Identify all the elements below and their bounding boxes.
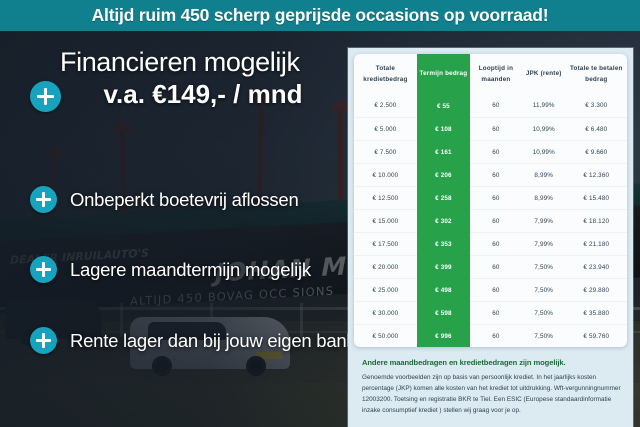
table-cell: 60 <box>470 164 522 187</box>
table-row: € 50.000€ 996607,50%€ 59.760 <box>354 325 627 348</box>
table-row: € 25.000€ 498607,50%€ 29.880 <box>354 279 627 302</box>
rates-table-card: Totale kredietbedrag Termijn bedrag Loop… <box>354 54 627 347</box>
table-cell: € 9.660 <box>566 141 627 164</box>
table-row: € 2.500€ 556011,99%€ 3.300 <box>354 95 627 118</box>
benefit-label: Rente lager dan bij jouw eigen bank <box>70 330 355 352</box>
table-cell: 60 <box>470 256 522 279</box>
table-cell: € 50.000 <box>354 325 417 348</box>
table-cell: € 302 <box>417 210 470 233</box>
table-cell: 60 <box>470 233 522 256</box>
plus-icon <box>30 81 61 112</box>
benefit-item-1: Onbeperkt boetevrij aflossen <box>30 186 299 213</box>
table-cell: € 161 <box>417 141 470 164</box>
table-cell: 7,99% <box>522 210 566 233</box>
table-cell: 7,50% <box>522 302 566 325</box>
headline-line-1: Financieren mogelijk <box>60 48 346 77</box>
credit-rates-table: Totale kredietbedrag Termijn bedrag Loop… <box>354 54 627 347</box>
table-cell: 60 <box>470 302 522 325</box>
column-header-monthly-amount: Termijn bedrag <box>417 55 470 95</box>
column-header-total-payable: Totale te betalen bedrag <box>566 55 627 95</box>
table-cell: 60 <box>470 210 522 233</box>
table-cell: € 25.000 <box>354 279 417 302</box>
benefit-item-3: Rente lager dan bij jouw eigen bank <box>30 327 355 354</box>
table-header-row: Totale kredietbedrag Termijn bedrag Loop… <box>354 55 627 95</box>
table-cell: € 996 <box>417 325 470 348</box>
table-cell: 7,50% <box>522 279 566 302</box>
table-cell: 60 <box>470 325 522 348</box>
table-row: € 20.000€ 399607,50%€ 23.940 <box>354 256 627 279</box>
benefit-label: Lagere maandtermijn mogelijk <box>70 259 311 281</box>
table-cell: € 3.300 <box>566 95 627 118</box>
table-cell: € 258 <box>417 187 470 210</box>
table-cell: € 59.760 <box>566 325 627 348</box>
plus-icon <box>30 256 57 283</box>
table-body: € 2.500€ 556011,99%€ 3.300€ 5.000€ 10860… <box>354 95 627 348</box>
column-header-total-credit: Totale kredietbedrag <box>354 55 417 95</box>
table-row: € 10.000€ 206608,99%€ 12.360 <box>354 164 627 187</box>
table-row: € 5.000€ 1086010,99%€ 6.480 <box>354 118 627 141</box>
table-row: € 12.500€ 258608,99%€ 15.480 <box>354 187 627 210</box>
table-cell: € 18.120 <box>566 210 627 233</box>
table-cell: € 29.880 <box>566 279 627 302</box>
table-cell: 60 <box>470 95 522 118</box>
plus-icon <box>30 186 57 213</box>
table-cell: € 399 <box>417 256 470 279</box>
table-cell: 60 <box>470 141 522 164</box>
top-banner-text: Altijd ruim 450 scherp geprijsde occasio… <box>92 5 549 26</box>
headline-block: Financieren mogelijk v.a. €149,- / mnd <box>60 48 346 110</box>
table-cell: 7,50% <box>522 325 566 348</box>
table-cell: € 20.000 <box>354 256 417 279</box>
table-cell: € 206 <box>417 164 470 187</box>
table-cell: € 598 <box>417 302 470 325</box>
table-cell: € 6.480 <box>566 118 627 141</box>
column-header-term-months: Looptijd in maanden <box>470 55 522 95</box>
table-cell: € 15.480 <box>566 187 627 210</box>
table-cell: 7,99% <box>522 233 566 256</box>
table-cell: € 21.180 <box>566 233 627 256</box>
credit-offer-banner: DEALER INRUILAUTO'S JOHAN MEURE ALTIJD 4… <box>0 0 640 427</box>
credit-info-panel: Totale kredietbedrag Termijn bedrag Loop… <box>348 48 633 427</box>
table-cell: € 23.940 <box>566 256 627 279</box>
table-row: € 15.000€ 302607,99%€ 18.120 <box>354 210 627 233</box>
table-cell: € 7.500 <box>354 141 417 164</box>
table-row: € 30.000€ 598607,50%€ 35.880 <box>354 302 627 325</box>
plus-icon <box>30 327 57 354</box>
disclaimer-title: Andere maandbedragen en kredietbedragen … <box>362 358 624 367</box>
table-cell: € 55 <box>417 95 470 118</box>
table-cell: € 12.500 <box>354 187 417 210</box>
table-cell: 60 <box>470 118 522 141</box>
table-cell: 8,99% <box>522 187 566 210</box>
table-cell: 10,99% <box>522 141 566 164</box>
headline-line-2: v.a. €149,- / mnd <box>60 80 346 110</box>
table-row: € 7.500€ 1616010,99%€ 9.660 <box>354 141 627 164</box>
table-cell: € 10.000 <box>354 164 417 187</box>
table-cell: 60 <box>470 279 522 302</box>
table-cell: € 30.000 <box>354 302 417 325</box>
left-content-column: Financieren mogelijk v.a. €149,- / mnd O… <box>0 31 348 427</box>
table-cell: 8,99% <box>522 164 566 187</box>
table-row: € 17.500€ 353607,99%€ 21.180 <box>354 233 627 256</box>
table-cell: € 12.360 <box>566 164 627 187</box>
table-cell: 10,99% <box>522 118 566 141</box>
benefit-item-2: Lagere maandtermijn mogelijk <box>30 256 311 283</box>
table-cell: € 17.500 <box>354 233 417 256</box>
table-cell: 60 <box>470 187 522 210</box>
top-banner-bar: Altijd ruim 450 scherp geprijsde occasio… <box>0 0 640 31</box>
column-header-apr: JPK (rente) <box>522 55 566 95</box>
table-cell: 11,99% <box>522 95 566 118</box>
table-cell: € 108 <box>417 118 470 141</box>
table-cell: € 2.500 <box>354 95 417 118</box>
table-cell: € 15.000 <box>354 210 417 233</box>
benefit-label: Onbeperkt boetevrij aflossen <box>70 189 299 211</box>
table-cell: € 5.000 <box>354 118 417 141</box>
table-cell: € 35.880 <box>566 302 627 325</box>
disclaimer-block: Andere maandbedragen en kredietbedragen … <box>362 358 624 416</box>
disclaimer-body: Genoemde voorbeelden zijn op basis van p… <box>362 372 624 416</box>
table-cell: € 353 <box>417 233 470 256</box>
table-cell: € 498 <box>417 279 470 302</box>
table-cell: 7,50% <box>522 256 566 279</box>
